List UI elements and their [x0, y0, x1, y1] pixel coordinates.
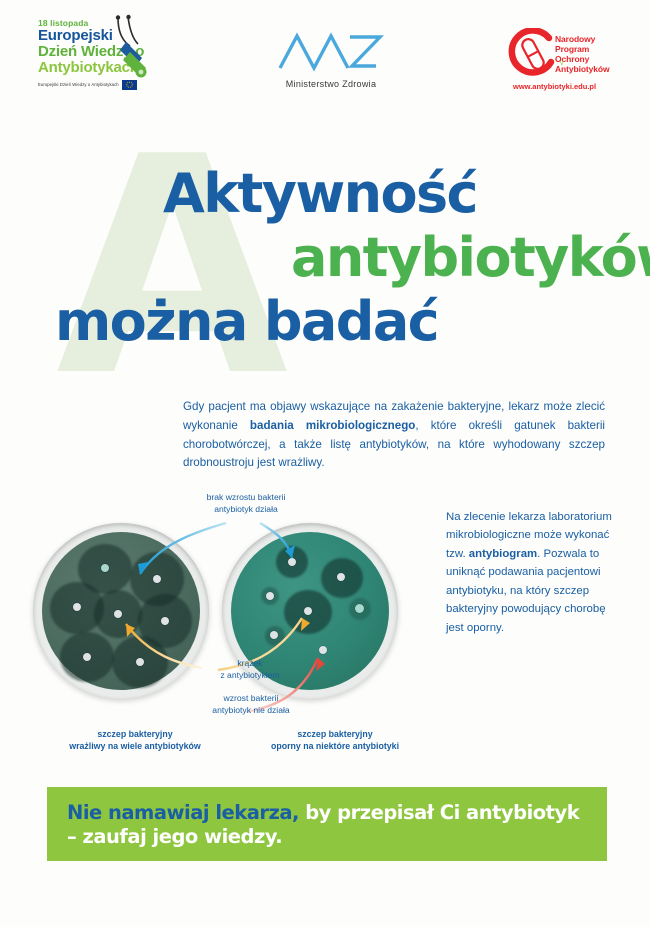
petri-dish-diagram: brak wzrostu bakterii antybiotyk działa … [30, 490, 430, 770]
title-line-2: antybiotyków [291, 232, 650, 284]
banner-blue-text: Nie namawiaj lekarza, [67, 801, 299, 824]
caption-right-line-2: oporny na niektóre antybiotyki [235, 740, 435, 752]
title-line-1: Aktywność [163, 168, 477, 220]
caption-right-line-1: szczep bakteryjny [235, 728, 435, 740]
banner-corner-mark: v [560, 60, 564, 67]
stethoscope-icon [108, 14, 156, 88]
annotation-growth-line-2: antybiotyk nie działa [176, 705, 326, 717]
annotation-no-growth-line-2: antybiotyk działa [166, 504, 326, 516]
banner-white-text-1: by przepisał Ci antybiotyk [299, 801, 579, 824]
call-to-action-banner: Nie namawiaj lekarza, by przepisał Ci an… [47, 787, 607, 861]
capsule-icon [507, 28, 559, 85]
annotation-disc: krążek z antybiotykiem [190, 658, 310, 681]
npoa-logo: Narodowy Program Ochrony Antybiotyków ww… [505, 24, 630, 100]
annotation-disc-line-1: krążek [190, 658, 310, 670]
caption-right-dish: szczep bakteryjny oporny na niektóre ant… [235, 728, 435, 752]
poster-root: 18 listopada Europejski Dzień Wiedzy o A… [0, 0, 650, 927]
banner-white-text-2: – zaufaj jego wiedzy. [67, 825, 282, 848]
annotation-growth: wzrost bakterii antybiotyk nie działa [176, 693, 326, 716]
annotation-no-growth-line-1: brak wzrostu bakterii [166, 492, 326, 504]
side-paragraph: Na zlecenie lekarza laboratorium mikrobi… [446, 508, 616, 637]
title-line-3: można badać [55, 296, 438, 348]
ministry-of-health-logo: Ministerstwo Zdrowia [276, 28, 386, 90]
side-bold-1: antybiogram [469, 548, 537, 560]
caption-left-line-2: wrażliwy na wiele antybiotyków [35, 740, 235, 752]
edwa-footer-text: Europejski Dzień Wiedzy o Antybiotykach [38, 83, 119, 87]
mz-mark-icon [276, 28, 386, 77]
intro-bold-1: badania mikrobiologicznego [250, 419, 415, 432]
caption-left-dish: szczep bakteryjny wrażliwy na wiele anty… [35, 728, 235, 752]
npoa-url[interactable]: www.antybiotyki.edu.pl [513, 82, 596, 91]
npoa-text: Narodowy Program Ochrony Antybiotyków [555, 34, 610, 74]
banner-text: Nie namawiaj lekarza, by przepisał Ci an… [67, 801, 597, 849]
annotation-disc-line-2: z antybiotykiem [190, 670, 310, 682]
annotation-growth-line-1: wzrost bakterii [176, 693, 326, 705]
mz-caption: Ministerstwo Zdrowia [276, 79, 386, 89]
annotation-no-growth: brak wzrostu bakterii antybiotyk działa [166, 492, 326, 515]
npoa-line-1: Narodowy [555, 34, 610, 44]
intro-paragraph: Gdy pacjent ma objawy wskazujące na zaka… [183, 398, 605, 473]
caption-left-line-1: szczep bakteryjny [35, 728, 235, 740]
npoa-line-2: Program [555, 44, 610, 54]
side-part-2: . Pozwala to uniknąć podawania pacjentow… [446, 548, 606, 634]
